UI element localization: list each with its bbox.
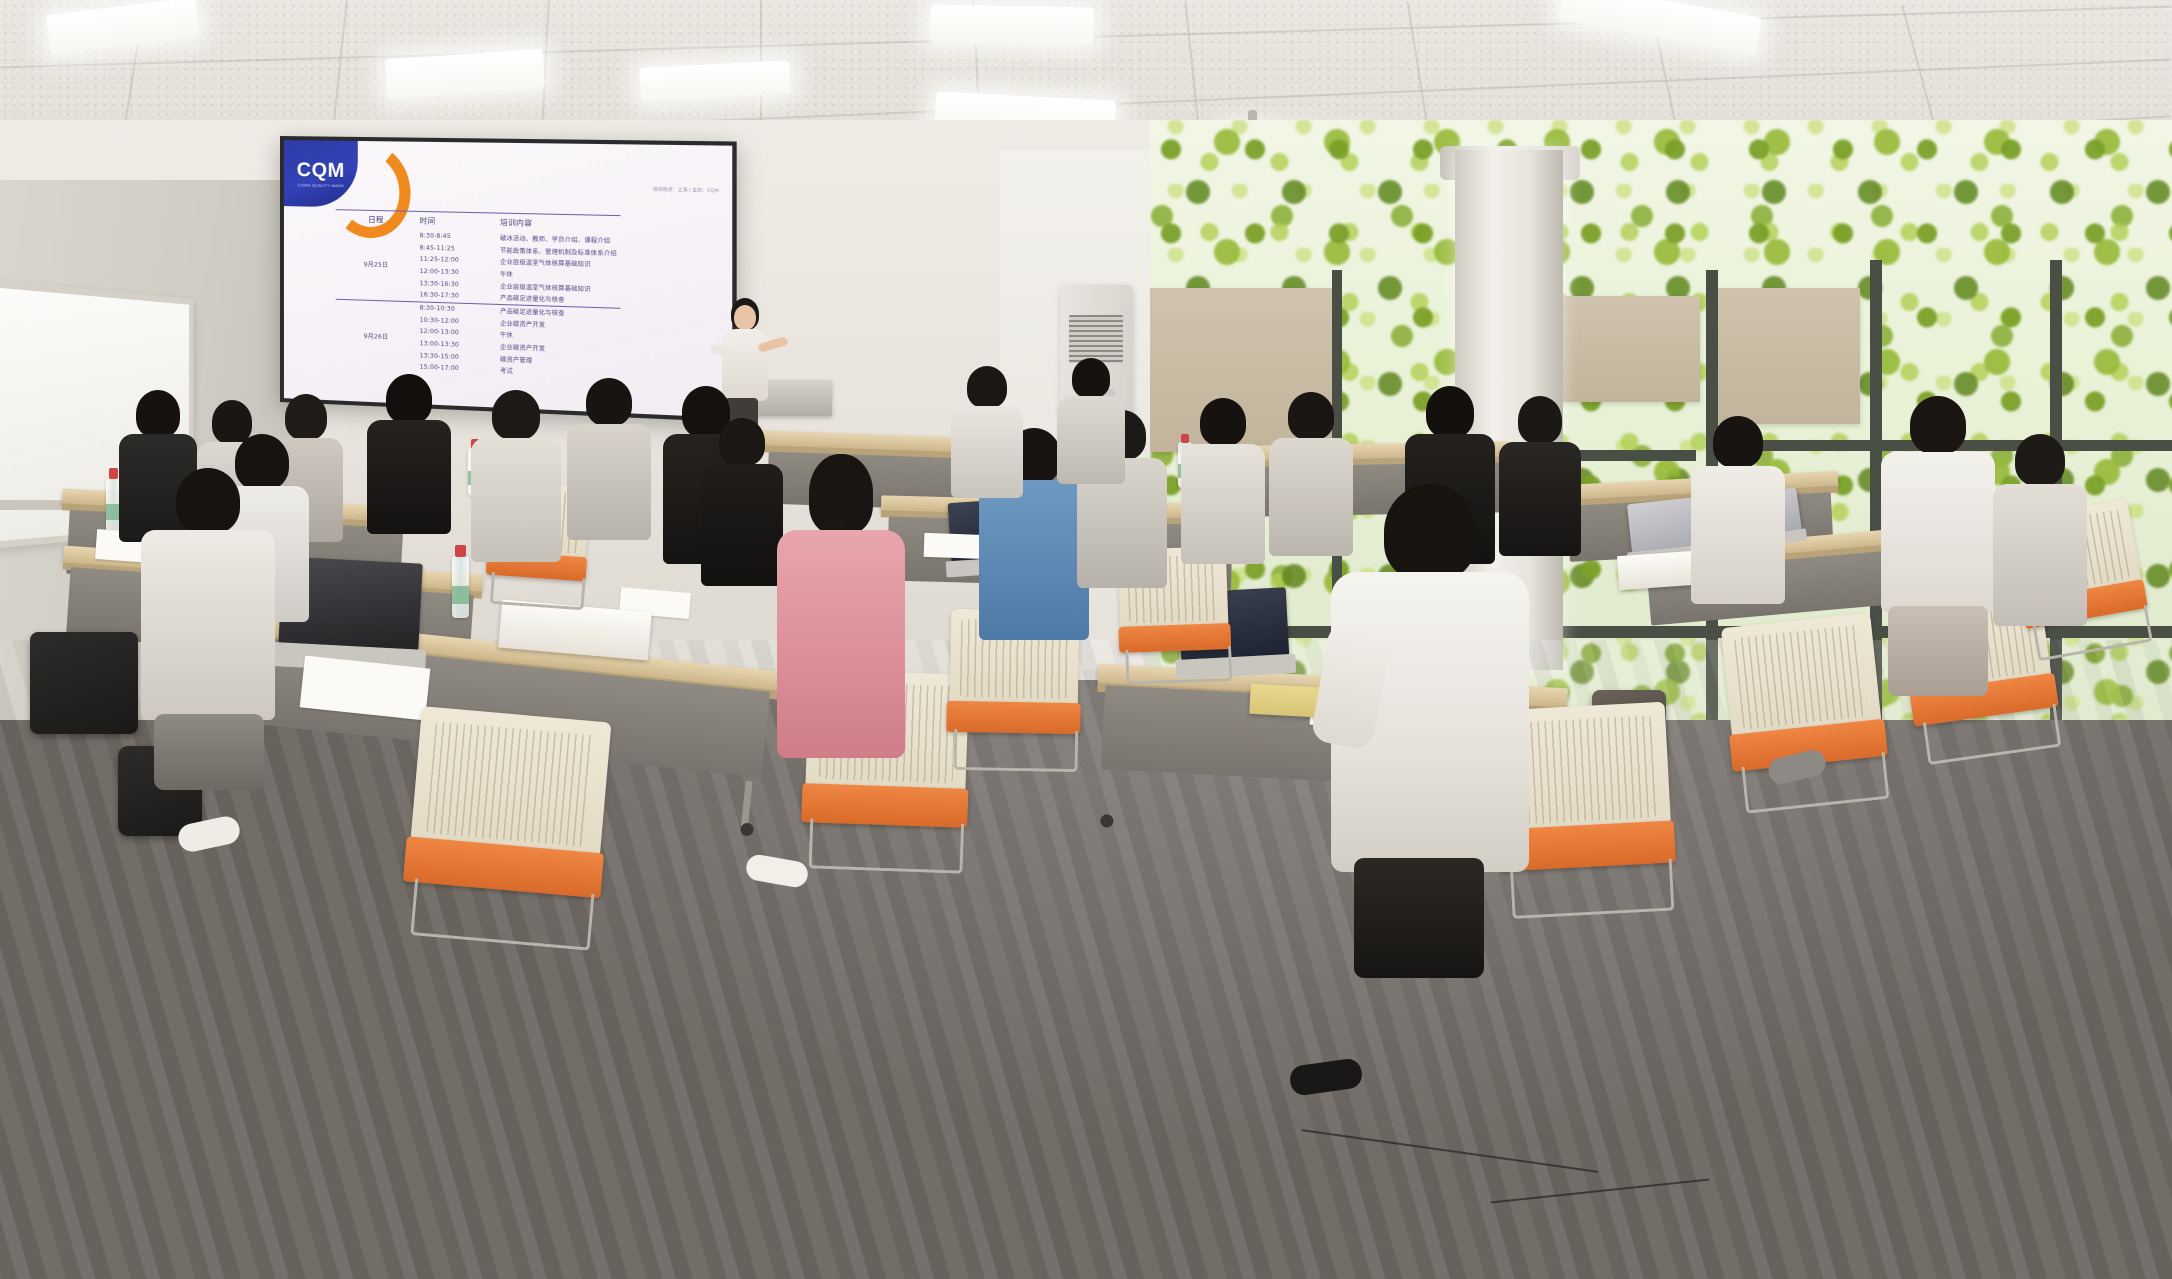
attendee-hair <box>967 366 1007 408</box>
attendee <box>776 456 906 756</box>
projection-screen: CQM CHINA QUALITY MARK 培训地点：上海 | 主办：CQM … <box>280 136 737 422</box>
attendee <box>1992 436 2088 626</box>
attendee-hair <box>586 378 632 426</box>
attendee-torso <box>367 420 451 534</box>
bottle-cap <box>455 545 466 557</box>
attendee-lower-body <box>1888 606 1988 696</box>
chair-back-slats <box>1509 715 1657 825</box>
attendee <box>366 376 452 534</box>
chair-sled-base <box>1510 858 1675 919</box>
chair-sled-base <box>809 818 964 873</box>
attendee-hair <box>1288 392 1334 440</box>
attendee-hair <box>1518 396 1562 444</box>
attendee-hair <box>492 390 540 440</box>
attendee-hair <box>2015 434 2065 486</box>
attendee-legs <box>1354 858 1484 978</box>
attendee-torso <box>471 438 561 562</box>
attendee <box>566 380 652 540</box>
attendee <box>950 368 1024 498</box>
attendee-torso <box>777 530 905 758</box>
slide-meta-line: 培训地点：上海 | 主办：CQM <box>653 187 719 194</box>
attendee-torso <box>141 530 275 720</box>
attendee-torso <box>1881 452 1995 612</box>
chair[interactable] <box>1721 613 1889 812</box>
attendee-torso <box>1181 444 1265 564</box>
attendee-hair <box>386 374 432 424</box>
cqm-logo-text: CQM <box>297 160 345 181</box>
column-header-date: 日程 <box>336 210 417 230</box>
schedule-date-cell: 9月25日 <box>336 228 417 302</box>
attendee-hair <box>136 390 180 438</box>
attendee-torso <box>1993 484 2087 626</box>
bottle-label <box>452 586 469 605</box>
attendee-hair <box>176 468 240 534</box>
window-blind <box>1710 288 1860 424</box>
ceiling-light <box>930 5 1095 46</box>
chair-back-slats <box>426 721 595 847</box>
schedule-date-cell: 9月26日 <box>336 299 417 373</box>
attendee <box>1330 486 1530 906</box>
attendee-hair <box>719 418 765 466</box>
bottle-cap <box>109 468 119 479</box>
attendee <box>470 392 562 562</box>
attendee-torso <box>951 406 1023 498</box>
water-bottle[interactable] <box>452 556 469 618</box>
slide-surface: CQM CHINA QUALITY MARK 培训地点：上海 | 主办：CQM … <box>284 140 732 418</box>
attendee-torso <box>567 424 651 540</box>
classroom-scene: CQM CHINA QUALITY MARK 培训地点：上海 | 主办：CQM … <box>0 0 2172 1279</box>
attendee-torso <box>1691 466 1785 604</box>
attendee <box>700 420 784 586</box>
attendee-hair <box>1426 386 1474 438</box>
chair-sled-base <box>490 572 586 610</box>
chair-back-slats <box>1734 625 1869 729</box>
cqm-logo-subtext: CHINA QUALITY MARK <box>297 182 344 188</box>
attendee-torso <box>701 464 783 586</box>
chair-sled-base <box>954 729 1078 772</box>
attendee-hair <box>1713 416 1763 468</box>
presenter-head <box>734 305 756 330</box>
attendee <box>140 470 276 770</box>
attendee <box>1180 400 1266 564</box>
column-header-time: 时间 <box>417 211 497 231</box>
ac-grille <box>1069 315 1124 363</box>
schedule-table-body: 9月25日8:30-8:45破冰活动、教师、学员介绍、课程介绍8:45-11:2… <box>336 228 620 382</box>
backpack <box>30 632 138 734</box>
attendee-hair <box>1384 484 1476 580</box>
attendee <box>1690 418 1786 604</box>
attendee-lower-body <box>154 714 264 790</box>
attendee <box>1056 360 1126 484</box>
attendee-torso <box>979 480 1089 640</box>
attendee-hair <box>1072 358 1110 398</box>
attendee-hair <box>1910 396 1966 454</box>
training-schedule-table: 日程 时间 培训内容 9月25日8:30-8:45破冰活动、教师、学员介绍、课程… <box>336 209 620 381</box>
attendee-hair <box>1200 398 1246 446</box>
chair[interactable] <box>403 706 612 948</box>
schedule-time-cell: 15:00-17:00 <box>417 361 497 376</box>
attendee <box>1880 398 1996 688</box>
attendee-torso <box>1057 396 1125 484</box>
chair-sled-base <box>1126 646 1233 684</box>
attendee-hair <box>285 394 327 440</box>
